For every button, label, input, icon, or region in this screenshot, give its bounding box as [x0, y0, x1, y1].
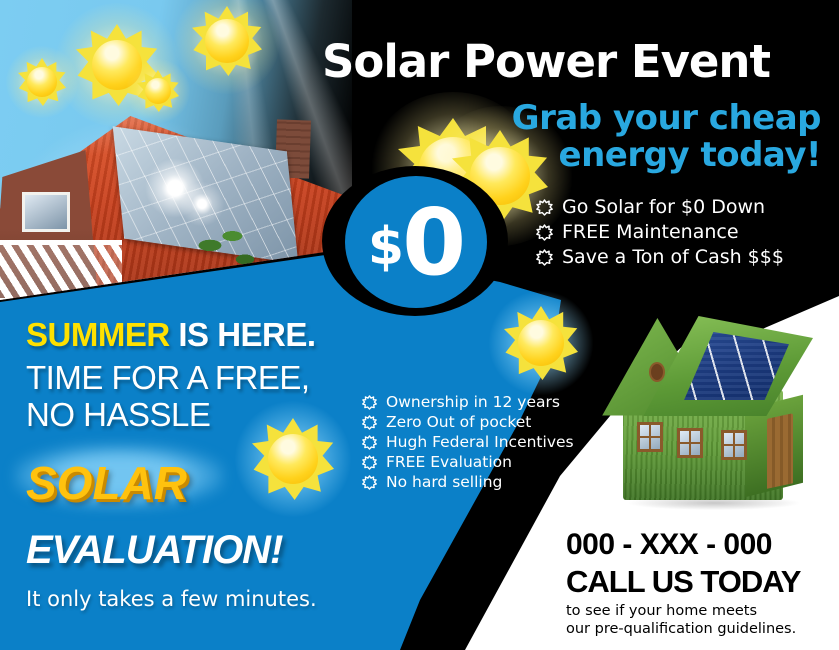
sun-icon-header-1 [192, 6, 262, 76]
sun-icon-blue-right [504, 306, 578, 380]
summer-rest-text: IS HERE. [170, 316, 316, 353]
subheadline-line-1: Grab your cheap [321, 100, 821, 137]
house-round-window [649, 362, 665, 382]
list-item-label: Ownership in 12 years [386, 394, 560, 412]
marketing-copy: SUMMER IS HERE. TIME FOR A FREE, NO HASS… [26, 318, 356, 611]
list-item: FREE Maintenance [536, 221, 836, 243]
sun-icon [362, 455, 377, 470]
copy-line-3: NO HASSLE [26, 397, 356, 434]
list-item: FREE Evaluation [362, 454, 602, 472]
sun-icon [362, 435, 377, 450]
dormer-window [22, 192, 70, 232]
sun-icon [536, 199, 553, 216]
house-window-3 [721, 430, 747, 460]
list-item: Save a Ton of Cash $$$ [536, 246, 836, 268]
zero-badge-text: $0 [368, 189, 464, 296]
grass-house-illustration [595, 310, 831, 520]
sun-icon [362, 415, 377, 430]
list-item-label: Go Solar for $0 Down [562, 196, 765, 218]
panel-glare-secondary [180, 182, 224, 226]
phone-number[interactable]: 000 - XXX - 000 [566, 528, 836, 562]
sun-icon-photo-tiny [137, 70, 179, 112]
subheadline: Grab your cheap energy today! [321, 100, 821, 173]
currency-symbol: $ [368, 217, 402, 277]
zero-down-badge: $0 [345, 176, 487, 308]
sun-icon [536, 249, 553, 266]
fine-print-line-1: to see if your home meets [566, 603, 836, 621]
copy-line-2: TIME FOR A FREE, [26, 360, 356, 397]
minutes-note: It only takes a few minutes. [26, 587, 356, 611]
fine-print: to see if your home meets our pre-qualif… [566, 603, 836, 638]
sun-icon [536, 224, 553, 241]
solar-word: SOLAR [26, 456, 187, 510]
house-window-1 [637, 422, 663, 452]
house-door [767, 413, 793, 489]
subheadline-line-2: energy today! [321, 137, 821, 174]
benefit-bullet-list: Ownership in 12 years Zero Out of pocket… [362, 394, 602, 494]
list-item-label: Zero Out of pocket [386, 414, 531, 432]
list-item-label: No hard selling [386, 474, 502, 492]
summer-headline: SUMMER IS HERE. [26, 318, 356, 351]
list-item-label: FREE Evaluation [386, 454, 512, 472]
call-to-action: CALL US TODAY [566, 564, 836, 600]
fine-print-line-2: our pre-qualification guidelines. [566, 621, 836, 639]
list-item-label: Save a Ton of Cash $$$ [562, 246, 784, 268]
sun-icon-photo-small [18, 58, 66, 106]
list-item: No hard selling [362, 474, 602, 492]
list-item: Hugh Federal Incentives [362, 434, 602, 452]
list-item: Ownership in 12 years [362, 394, 602, 412]
sun-icon [362, 475, 377, 490]
page-title: Solar Power Event [322, 40, 822, 84]
evaluation-word: EVALUATION! [26, 528, 356, 573]
house-window-2 [677, 428, 703, 458]
badge-amount: 0 [402, 189, 464, 296]
solar-power-event-flyer: $0 Solar Power Event Grab your cheap ene… [0, 0, 839, 650]
offer-bullet-list: Go Solar for $0 Down FREE Maintenance Sa… [536, 196, 836, 271]
list-item: Go Solar for $0 Down [536, 196, 836, 218]
list-item-label: Hugh Federal Incentives [386, 434, 574, 452]
list-item: Zero Out of pocket [362, 414, 602, 432]
list-item-label: FREE Maintenance [562, 221, 739, 243]
summer-highlight-word: SUMMER [26, 316, 170, 353]
sun-icon [362, 395, 377, 410]
contact-block: 000 - XXX - 000 CALL US TODAY to see if … [566, 528, 836, 638]
